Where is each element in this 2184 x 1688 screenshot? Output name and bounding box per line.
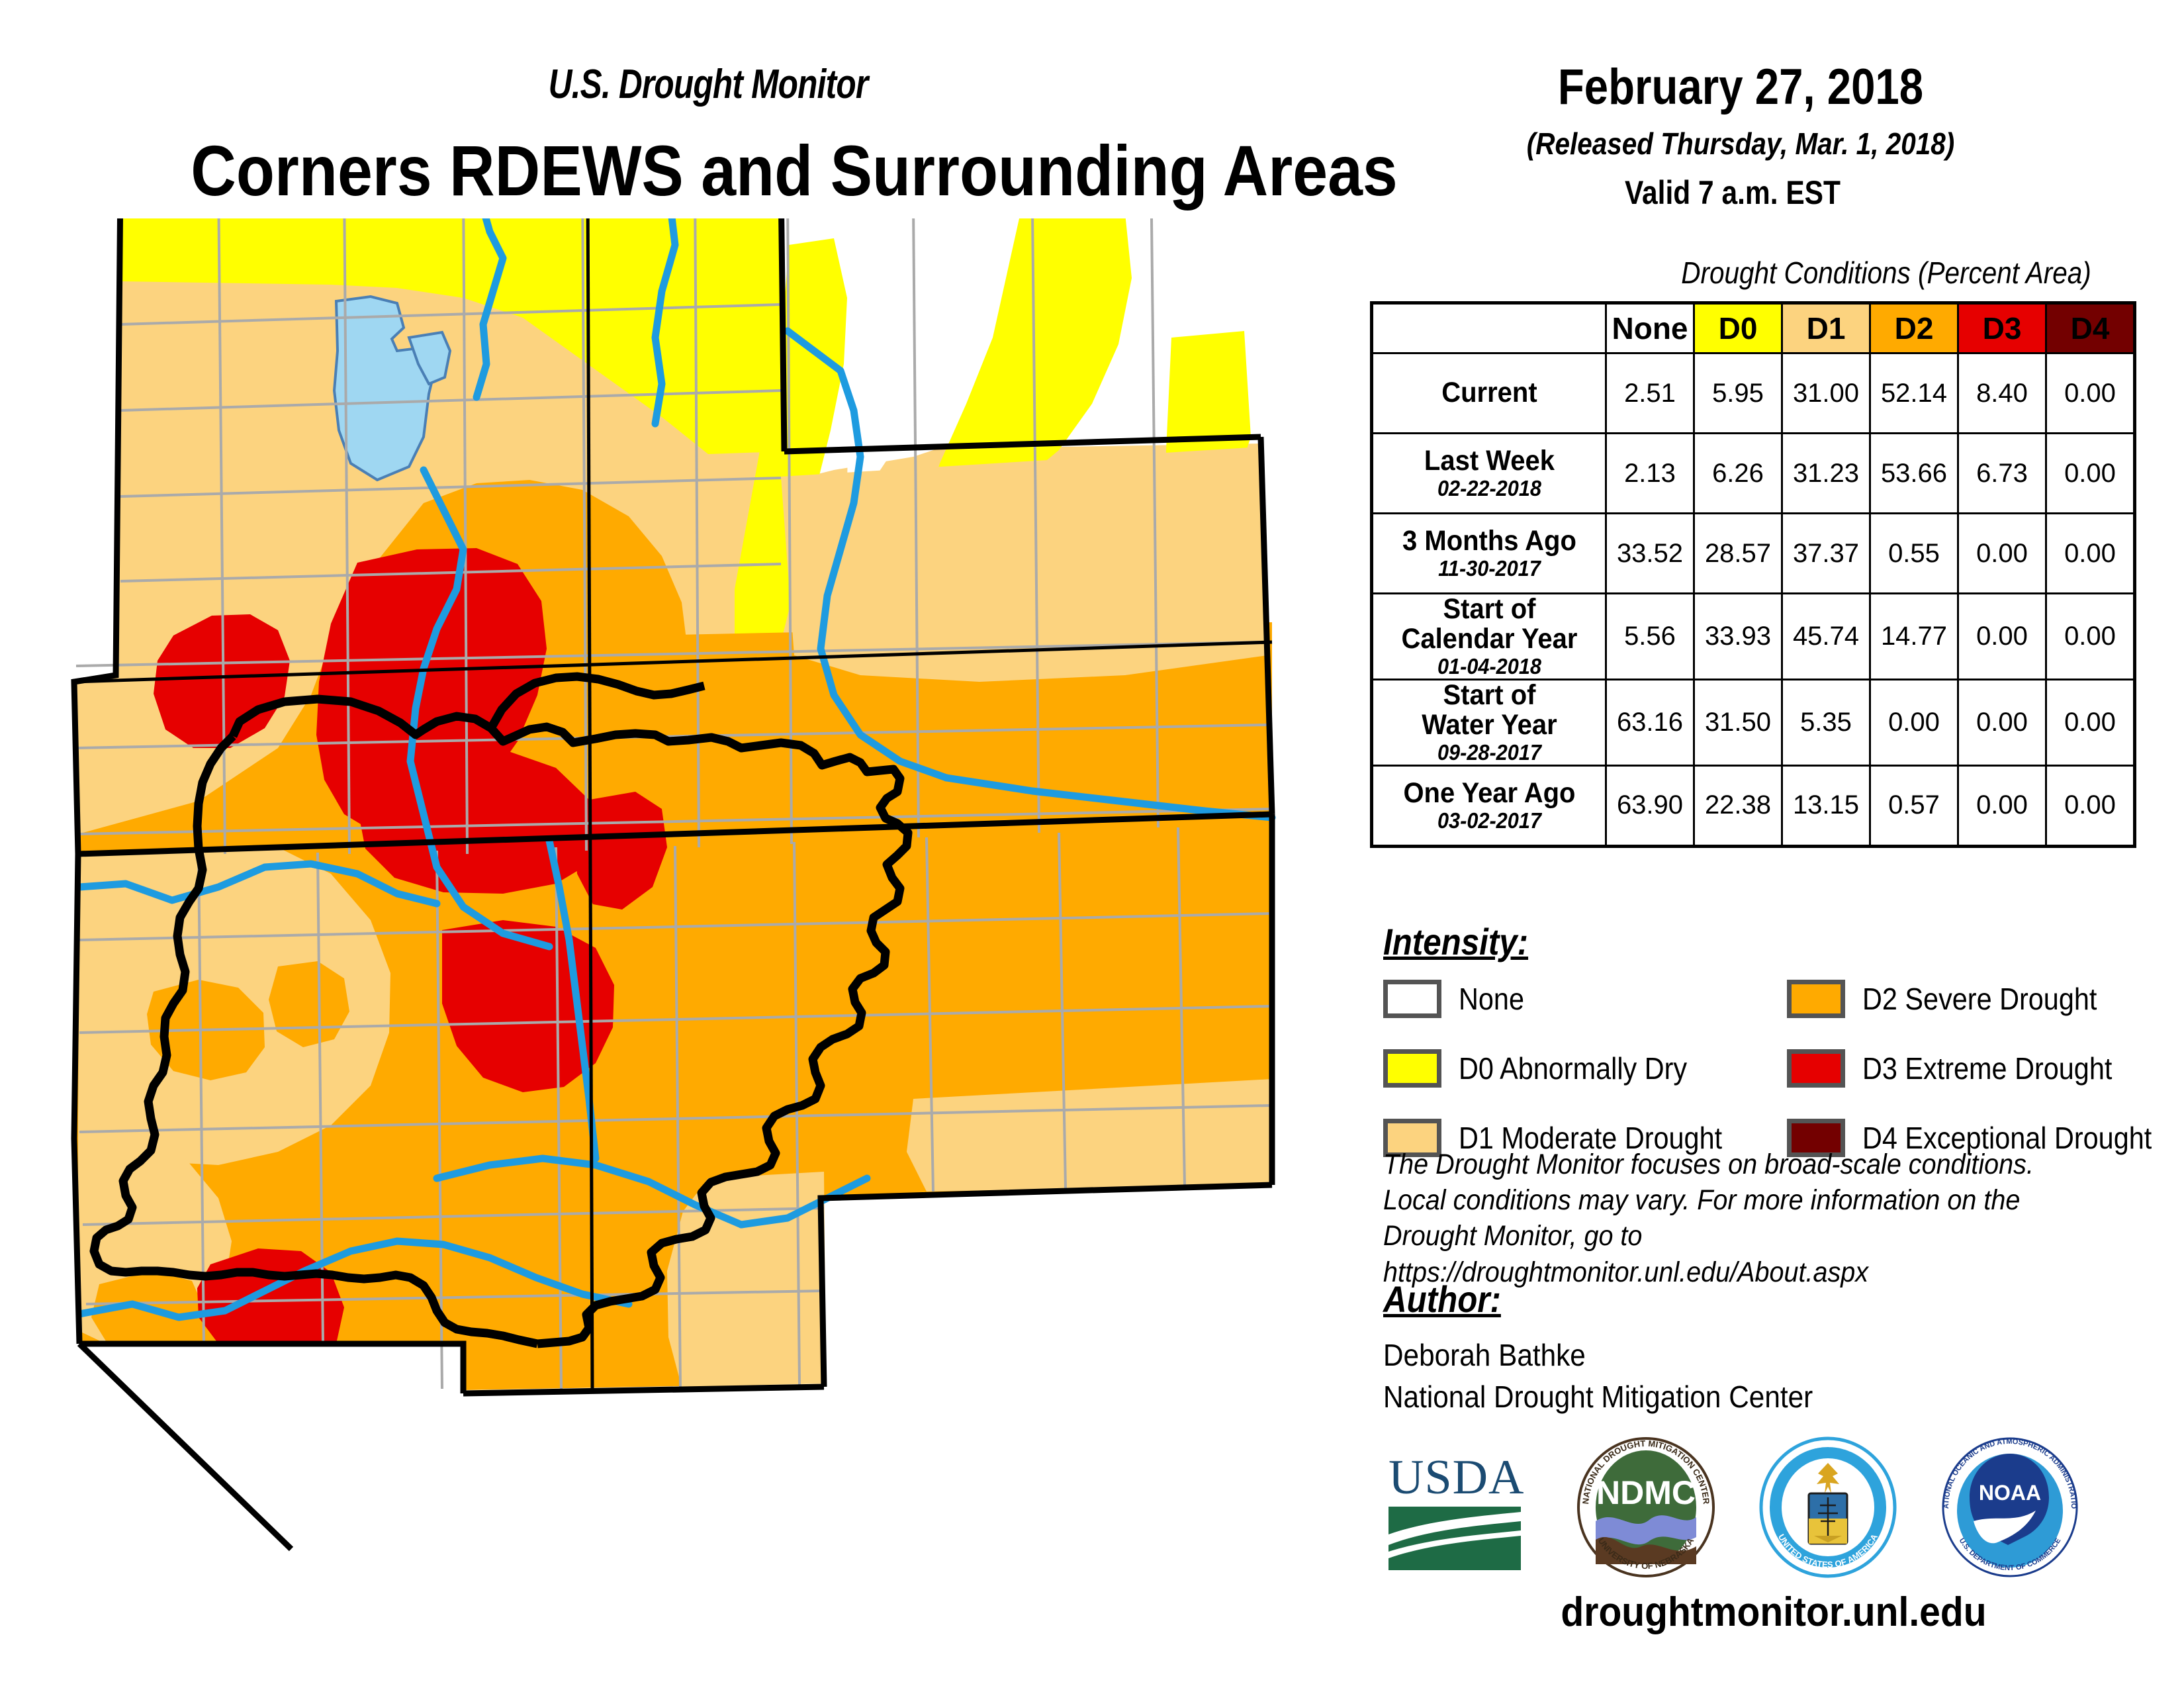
table-cell: 31.00 xyxy=(1782,353,1870,434)
table-cell: 5.35 xyxy=(1782,679,1870,765)
table-cell: 52.14 xyxy=(1870,353,1958,434)
swatch-none-icon xyxy=(1383,980,1441,1018)
row-label: Start ofWater Year09-28-2017 xyxy=(1380,679,1598,765)
usda-logo: USDA xyxy=(1383,1442,1535,1574)
column-header-d1: D1 xyxy=(1782,303,1870,353)
table-body: Current2.515.9531.0052.148.400.00Last We… xyxy=(1372,353,2135,847)
row-label: 3 Months Ago11-30-2017 xyxy=(1380,514,1598,594)
column-header-d4: D4 xyxy=(2046,303,2135,353)
table-cell: 0.00 xyxy=(1958,594,2046,680)
legend-label-d3: D3 Extreme Drought xyxy=(1862,1051,2112,1086)
row-label: Last Week02-22-2018 xyxy=(1380,434,1598,514)
table-cell: 0.00 xyxy=(2046,679,2135,765)
table-cell: 14.77 xyxy=(1870,594,1958,680)
swatch-d0-icon xyxy=(1383,1049,1441,1088)
table-header-row: None D0 D1 D2 D3 D4 xyxy=(1372,303,2135,353)
doc-logo: DEPARTMENT OF COMMERCE UNITED STATES OF … xyxy=(1757,1436,1899,1579)
author-name: Deborah Bathke xyxy=(1383,1337,1586,1373)
table-cell: 6.73 xyxy=(1958,434,2046,514)
row-label: Start ofCalendar Year01-04-2018 xyxy=(1380,594,1598,680)
row-label-date: 09-28-2017 xyxy=(1381,741,1597,765)
drought-map[interactable] xyxy=(0,218,1363,1609)
table-cell: 8.40 xyxy=(1958,353,2046,434)
table-cell: 37.37 xyxy=(1782,514,1870,594)
legend-item-none: None xyxy=(1383,973,1751,1025)
valid-date: February 27, 2018 xyxy=(1513,58,1968,116)
row-label-date: 03-02-2017 xyxy=(1381,810,1597,833)
table-cell: 13.15 xyxy=(1782,765,1870,846)
table-cell: 0.57 xyxy=(1870,765,1958,846)
column-header-d3: D3 xyxy=(1958,303,2046,353)
disclaimer-text: The Drought Monitor focuses on broad-sca… xyxy=(1383,1147,2102,1290)
table-row: Start ofCalendar Year01-04-20185.5633.93… xyxy=(1372,594,2135,680)
table-cell: 63.90 xyxy=(1606,765,1694,846)
legend-label-d2: D2 Severe Drought xyxy=(1862,981,2097,1017)
table-cell: 45.74 xyxy=(1782,594,1870,680)
table-row: Last Week02-22-20182.136.2631.2353.666.7… xyxy=(1372,434,2135,514)
table-cell: 0.00 xyxy=(2046,514,2135,594)
swatch-d2-icon xyxy=(1787,980,1845,1018)
legend-item-d3: D3 Extreme Drought xyxy=(1787,1043,2184,1094)
table-cell: 5.95 xyxy=(1694,353,1782,434)
site-url: droughtmonitor.unl.edu xyxy=(1414,1589,2133,1636)
svg-text:NDMC: NDMC xyxy=(1596,1474,1696,1511)
column-header-d0: D0 xyxy=(1694,303,1782,353)
table-cell: 0.00 xyxy=(1958,679,2046,765)
table-row: Current2.515.9531.0052.148.400.00 xyxy=(1372,353,2135,434)
table-cell: 53.66 xyxy=(1870,434,1958,514)
intensity-legend-title: Intensity: xyxy=(1383,920,1528,963)
table-cell: 0.00 xyxy=(1958,514,2046,594)
table-cell: 2.13 xyxy=(1606,434,1694,514)
table-cell: 0.00 xyxy=(2046,594,2135,680)
drought-conditions-table: None D0 D1 D2 D3 D4 Current2.515.9531.00… xyxy=(1370,301,2136,848)
table-cell: 28.57 xyxy=(1694,514,1782,594)
table-cell: 0.00 xyxy=(2046,434,2135,514)
release-date: (Released Thursday, Mar. 1, 2018) xyxy=(1508,126,1974,162)
table-cell: 22.38 xyxy=(1694,765,1782,846)
column-header-d2: D2 xyxy=(1870,303,1958,353)
row-label: One Year Ago03-02-2017 xyxy=(1380,765,1598,846)
table-cell: 31.23 xyxy=(1782,434,1870,514)
table-cell: 5.56 xyxy=(1606,594,1694,680)
table-cell: 6.26 xyxy=(1694,434,1782,514)
table-cell: 2.51 xyxy=(1606,353,1694,434)
table-row: Start ofWater Year09-28-201763.1631.505.… xyxy=(1372,679,2135,765)
legend-label-none: None xyxy=(1459,981,1524,1017)
table-row: 3 Months Ago11-30-201733.5228.5737.370.5… xyxy=(1372,514,2135,594)
table-cell: 0.00 xyxy=(2046,765,2135,846)
table-corner-cell xyxy=(1372,303,1606,353)
legend-item-d0: D0 Abnormally Dry xyxy=(1383,1043,1751,1094)
ndmc-logo: NDMC NATIONAL DROUGHT MITIGATION CENTER … xyxy=(1575,1436,1717,1579)
row-label-date: 11-30-2017 xyxy=(1381,557,1597,581)
author-heading: Author: xyxy=(1383,1278,1501,1321)
row-label-date: 02-22-2018 xyxy=(1381,477,1597,500)
table-caption: Drought Conditions (Percent Area) xyxy=(1630,255,2142,291)
table-cell: 63.16 xyxy=(1606,679,1694,765)
row-label-date: 01-04-2018 xyxy=(1381,655,1597,679)
column-header-none: None xyxy=(1606,303,1694,353)
svg-text:USDA: USDA xyxy=(1388,1450,1524,1505)
table-cell: 31.50 xyxy=(1694,679,1782,765)
table-cell: 33.52 xyxy=(1606,514,1694,594)
author-organization: National Drought Mitigation Center xyxy=(1383,1379,1813,1415)
svg-text:NOAA: NOAA xyxy=(1979,1481,2041,1505)
table-row: One Year Ago03-02-201763.9022.3813.150.5… xyxy=(1372,765,2135,846)
page-title: Corners RDEWS and Surrounding Areas xyxy=(49,129,1540,212)
table-cell: 0.00 xyxy=(1870,679,1958,765)
legend-label-d0: D0 Abnormally Dry xyxy=(1459,1051,1687,1086)
legend-item-d2: D2 Severe Drought xyxy=(1787,973,2184,1025)
program-title: U.S. Drought Monitor xyxy=(470,61,946,108)
table-cell: 0.00 xyxy=(2046,353,2135,434)
row-label: Current xyxy=(1380,353,1598,434)
table-cell: 0.55 xyxy=(1870,514,1958,594)
valid-time: Valid 7 a.m. EST xyxy=(1625,173,1841,212)
agency-logos: USDA NDMC NATIONAL DROUGHT MITIGATION CE… xyxy=(1383,1436,2081,1579)
table-cell: 0.00 xyxy=(1958,765,2046,846)
table-cell: 33.93 xyxy=(1694,594,1782,680)
swatch-d3-icon xyxy=(1787,1049,1845,1088)
noaa-logo: NOAA NATIONAL OCEANIC AND ATMOSPHERIC AD… xyxy=(1939,1436,2081,1579)
